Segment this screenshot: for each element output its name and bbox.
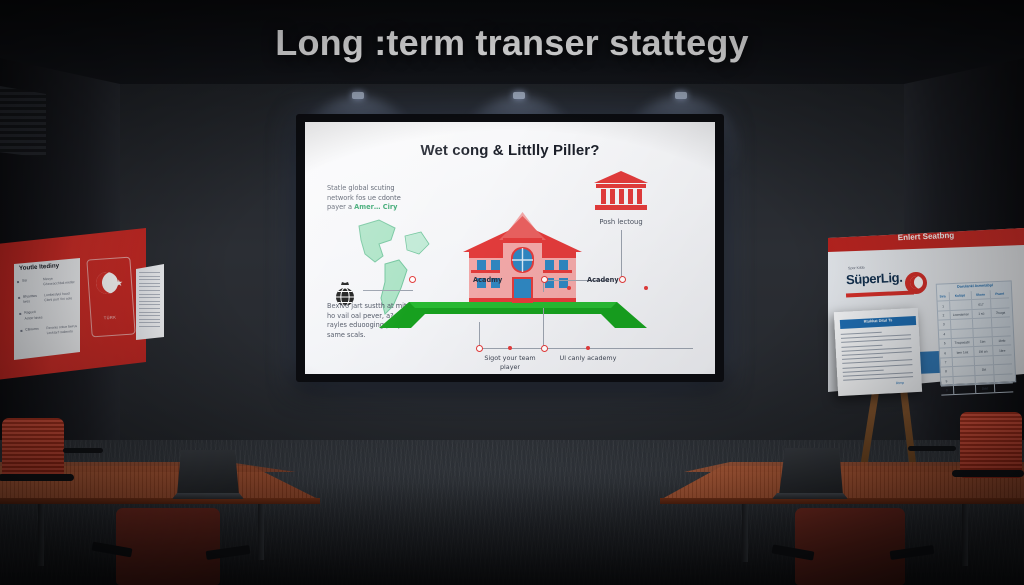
connector-node-dot bbox=[567, 286, 571, 290]
cell: 0 bbox=[941, 386, 954, 395]
cell bbox=[974, 356, 994, 365]
list-item: Ragucit Actorr bises bbox=[19, 307, 78, 321]
cell bbox=[975, 375, 995, 384]
table-left-edge bbox=[0, 498, 320, 504]
bullet-icon bbox=[20, 329, 22, 331]
cell: 1 bbox=[937, 302, 950, 311]
chair-left-front[interactable] bbox=[116, 508, 220, 585]
cell: 1bnb bbox=[993, 336, 1012, 345]
air-vent bbox=[0, 86, 46, 158]
laptop-left-base bbox=[172, 493, 244, 499]
turkish-flag-panel bbox=[86, 257, 135, 338]
bank-columns-icon bbox=[593, 170, 649, 212]
standings-grid: Sıra Kulüpt Skorn Puant 1 617 2 Loorstsm… bbox=[937, 289, 1014, 395]
table-leg bbox=[962, 504, 968, 566]
connector-line bbox=[363, 290, 413, 291]
super-lig-logo: SüperLig. bbox=[846, 270, 903, 288]
list-item: Bfyarttwu bres Lombeslyul haud Clerti pu… bbox=[18, 291, 77, 305]
cell bbox=[950, 300, 972, 309]
cell bbox=[995, 383, 1014, 392]
cell: 1bt bbox=[975, 365, 995, 374]
slide-bottom-label-1: Sigot your team player bbox=[481, 354, 539, 371]
connector-line bbox=[543, 308, 544, 348]
cell: 1bn bbox=[973, 337, 993, 346]
cell bbox=[991, 299, 1010, 308]
academy-building-icon bbox=[455, 208, 590, 318]
connector-node bbox=[409, 276, 416, 283]
cell bbox=[973, 318, 993, 327]
slide-mini-label-2: Acadeny bbox=[587, 276, 619, 284]
cell bbox=[950, 319, 972, 328]
chair-arm bbox=[63, 448, 103, 453]
table-leg bbox=[38, 504, 44, 566]
slide-bank-label: Posh lectoug bbox=[573, 218, 669, 226]
page-title: Long :term transer stattegy bbox=[0, 22, 1024, 64]
cell bbox=[993, 355, 1012, 364]
connector-node bbox=[541, 276, 548, 283]
connector-node-dot bbox=[586, 346, 590, 350]
paper-tag: Rtmp bbox=[896, 381, 904, 385]
cell: ben 1mt bbox=[952, 347, 974, 356]
cell bbox=[994, 364, 1013, 373]
laptop-left[interactable] bbox=[177, 450, 239, 495]
cell: 4 bbox=[938, 330, 951, 339]
column-header: Puant bbox=[990, 289, 1009, 298]
cell bbox=[973, 328, 993, 337]
star-icon: ★ bbox=[115, 279, 124, 289]
cell: Loorstsmar bbox=[950, 310, 972, 319]
slide-title: Wet cong & Littlly Piller? bbox=[305, 142, 715, 159]
cell: 9 bbox=[941, 377, 954, 386]
chair-arm bbox=[0, 474, 74, 481]
chair-left-mesh[interactable] bbox=[2, 418, 64, 480]
chair-right-front[interactable] bbox=[795, 508, 905, 585]
cell: 2 bbox=[938, 311, 951, 320]
cell bbox=[952, 357, 974, 366]
chair-arm bbox=[952, 470, 1024, 477]
chair-right-mesh[interactable] bbox=[960, 412, 1022, 478]
cell: 1bbt bbox=[975, 384, 995, 393]
cell bbox=[994, 374, 1013, 383]
cell: 7 bbox=[940, 358, 953, 367]
cell: 1ltt an bbox=[974, 347, 994, 356]
column-header: Kulüpt bbox=[949, 291, 971, 300]
left-poster-row-key: CBoumn bbox=[25, 326, 44, 337]
cell: 1 sü bbox=[972, 309, 992, 318]
cell bbox=[992, 327, 1011, 336]
projector-screen[interactable]: Wet cong & Littlly Piller? Statle global… bbox=[305, 122, 715, 374]
cell bbox=[953, 376, 975, 385]
left-poster-rows: Sör Mesye Gheoracchbal metler Bfyarttwu … bbox=[17, 275, 79, 344]
table-leg bbox=[742, 504, 748, 562]
board-kicker: Spor Kilüb bbox=[848, 266, 865, 271]
slide-note-top-left: Statle global scuting network fos ue cdo… bbox=[327, 184, 415, 213]
bullet-icon bbox=[18, 297, 20, 299]
left-poster-row-value: Reronis cotue bwrus Lecktarf roalenrtn bbox=[46, 324, 79, 336]
cell: 7lvuga bbox=[991, 308, 1010, 317]
slide-bottom-label-2: Ul canly academy bbox=[559, 354, 617, 363]
left-poster-row-key: Sör bbox=[22, 277, 41, 288]
connector-node-dot bbox=[508, 346, 512, 350]
cell bbox=[953, 366, 975, 375]
bullet-icon bbox=[17, 281, 19, 283]
left-poster-row-value: Lombeslyul haud Clerti purt Vni cote bbox=[44, 291, 77, 303]
connector-node-dot bbox=[644, 286, 648, 290]
left-poster-row-key: Ragucit Actorr bises bbox=[24, 310, 43, 321]
left-poster-row-key: Bfyarttwu bres bbox=[23, 294, 42, 305]
cell bbox=[992, 318, 1011, 327]
connector-node bbox=[541, 345, 548, 352]
cell: 617 bbox=[972, 300, 992, 309]
connector-node bbox=[476, 345, 483, 352]
table-leg bbox=[258, 504, 264, 560]
left-poster-row-value bbox=[45, 307, 78, 319]
column-header: Skorn bbox=[971, 290, 991, 299]
bullet-icon bbox=[19, 313, 21, 315]
column-header: Sıra bbox=[937, 292, 950, 301]
conference-room-scene: Long :term transer stattegy Wet cong & L… bbox=[0, 0, 1024, 585]
chair-arm bbox=[908, 446, 956, 451]
left-poster-document-lines bbox=[139, 272, 160, 330]
cell: 6 bbox=[939, 348, 952, 357]
slide-mini-label-1: Acadmy bbox=[473, 276, 502, 284]
connector-node bbox=[619, 276, 626, 283]
connector-line bbox=[621, 230, 622, 280]
cell bbox=[951, 329, 973, 338]
left-poster-row-value: Mesye Gheoracchbal metler bbox=[43, 275, 76, 287]
cell: 8 bbox=[940, 367, 953, 376]
cell: 3 bbox=[938, 320, 951, 329]
paper-body-lines bbox=[841, 330, 914, 384]
cell: 5 bbox=[939, 339, 952, 348]
cell: 1bre bbox=[993, 346, 1012, 355]
list-item: CBoumn Reronis cotue bwrus Lecktarf roal… bbox=[20, 324, 79, 338]
cell bbox=[953, 385, 975, 394]
laptop-right-base bbox=[772, 493, 848, 499]
laptop-right[interactable] bbox=[779, 448, 843, 495]
cell: Tnuposabl bbox=[951, 338, 973, 347]
